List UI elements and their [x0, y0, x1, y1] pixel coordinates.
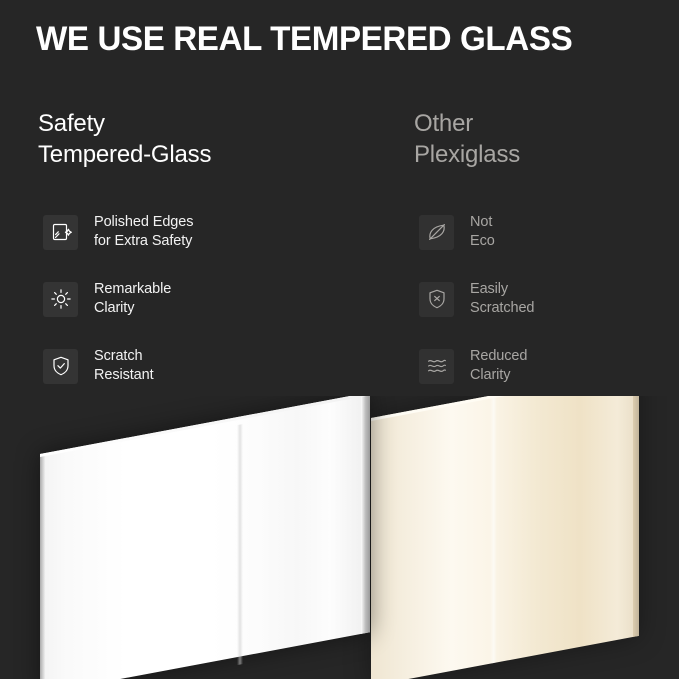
feature-label-line-1: Not — [470, 213, 495, 232]
column-heading-line-1: Other — [414, 108, 664, 139]
feature-label-reduced-clarity: Reduced Clarity — [470, 347, 527, 385]
feature-label-line-2: Scratched — [470, 299, 534, 318]
plexiglass-panel — [371, 396, 639, 679]
feature-label-line-2: Clarity — [470, 366, 527, 385]
feature-row-easily-scratched: Easily Scratched — [419, 276, 669, 322]
feature-label-line-1: Easily — [470, 280, 534, 299]
sun-brightness-icon — [43, 282, 78, 317]
feature-label-line-2: Clarity — [94, 299, 171, 318]
tempered-glass-panel — [40, 396, 370, 679]
feature-row-not-eco: Not Eco — [419, 209, 669, 255]
comparison-column-plexiglass: Other Plexiglass Not Eco — [414, 108, 664, 170]
column-heading-tempered-glass: Safety Tempered-Glass — [38, 108, 378, 170]
feature-label-line-2: Eco — [470, 232, 495, 251]
column-heading-line-1: Safety — [38, 108, 378, 139]
feature-label-line-2: Resistant — [94, 366, 154, 385]
column-heading-plexiglass: Other Plexiglass — [414, 108, 664, 170]
feature-label-line-1: Reduced — [470, 347, 527, 366]
column-heading-line-2: Plexiglass — [414, 139, 664, 170]
infographic-root: WE USE REAL TEMPERED GLASS Safety Temper… — [0, 0, 679, 679]
wavy-lines-icon — [419, 349, 454, 384]
feature-row-scratch-resistant: Scratch Resistant — [43, 343, 383, 389]
shield-check-icon — [43, 349, 78, 384]
feature-label-not-eco: Not Eco — [470, 213, 495, 251]
shield-x-icon — [419, 282, 454, 317]
leaf-crossed-out-icon — [419, 215, 454, 250]
plexiglass-panel-reflection — [490, 396, 497, 664]
feature-list-tempered-glass: Polished Edges for Extra Safety Remarkab… — [43, 209, 383, 410]
feature-list-plexiglass: Not Eco Easily Scratched — [419, 209, 669, 410]
feature-row-reduced-clarity: Reduced Clarity — [419, 343, 669, 389]
feature-label-scratch-resistant: Scratch Resistant — [94, 347, 154, 385]
tempered-glass-panel-edge — [361, 396, 370, 634]
feature-row-remarkable-clarity: Remarkable Clarity — [43, 276, 383, 322]
product-photo — [0, 396, 679, 679]
polished-edges-icon — [43, 215, 78, 250]
feature-label-line-1: Remarkable — [94, 280, 171, 299]
feature-label-line-1: Polished Edges — [94, 213, 193, 232]
feature-label-line-2: for Extra Safety — [94, 232, 193, 251]
feature-row-polished-edges: Polished Edges for Extra Safety — [43, 209, 383, 255]
page-title: WE USE REAL TEMPERED GLASS — [36, 19, 641, 59]
tempered-glass-panel-left-edge — [40, 453, 45, 679]
feature-label-remarkable-clarity: Remarkable Clarity — [94, 280, 171, 318]
feature-label-polished-edges: Polished Edges for Extra Safety — [94, 213, 193, 251]
feature-label-easily-scratched: Easily Scratched — [470, 280, 534, 318]
tempered-glass-panel-reflection — [237, 424, 243, 665]
feature-label-line-1: Scratch — [94, 347, 154, 366]
comparison-column-tempered-glass: Safety Tempered-Glass Polished Edges for… — [38, 108, 378, 170]
column-heading-line-2: Tempered-Glass — [38, 139, 378, 170]
plexiglass-panel-edge — [633, 396, 639, 637]
